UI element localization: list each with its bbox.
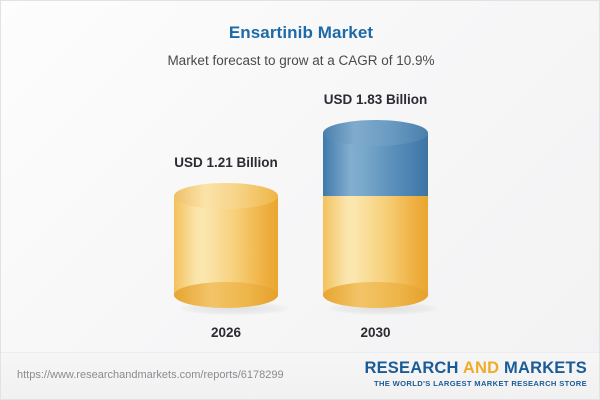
cylinder-bottom-cap-2026 (174, 282, 278, 308)
logo-tagline: THE WORLD'S LARGEST MARKET RESEARCH STOR… (364, 379, 587, 388)
logo-word-markets: MARKETS (504, 359, 587, 377)
bar-category-label-2026: 2026 (211, 325, 241, 340)
cylinder-top-cap-2026 (174, 183, 278, 209)
bar-value-label-2026: USD 1.21 Billion (174, 155, 278, 170)
cylinder-body-2030 (323, 120, 428, 308)
bar-segment-base-2026 (174, 196, 278, 295)
bar-segment-base-2030 (323, 196, 428, 295)
brand-logo: RESEARCH AND MARKETS THE WORLD'S LARGEST… (364, 359, 587, 388)
chart-card: Ensartinib Market Market forecast to gro… (0, 0, 600, 400)
report-url[interactable]: https://www.researchandmarkets.com/repor… (17, 369, 284, 381)
cylinder-top-cap-2030 (323, 120, 428, 146)
logo-wordmark: RESEARCH AND MARKETS (364, 359, 587, 378)
footer: https://www.researchandmarkets.com/repor… (1, 352, 600, 399)
bar-value-label-2030: USD 1.83 Billion (324, 92, 428, 107)
bar-category-label-2030: 2030 (360, 325, 390, 340)
logo-word-research: RESEARCH (364, 359, 458, 377)
plot-area: USD 1.21 Billion 2026 USD 1.83 Billion (1, 1, 600, 353)
cylinder-bottom-cap-2030 (323, 282, 428, 308)
logo-word-and: AND (463, 359, 499, 377)
cylinder-body-2026 (174, 183, 278, 308)
